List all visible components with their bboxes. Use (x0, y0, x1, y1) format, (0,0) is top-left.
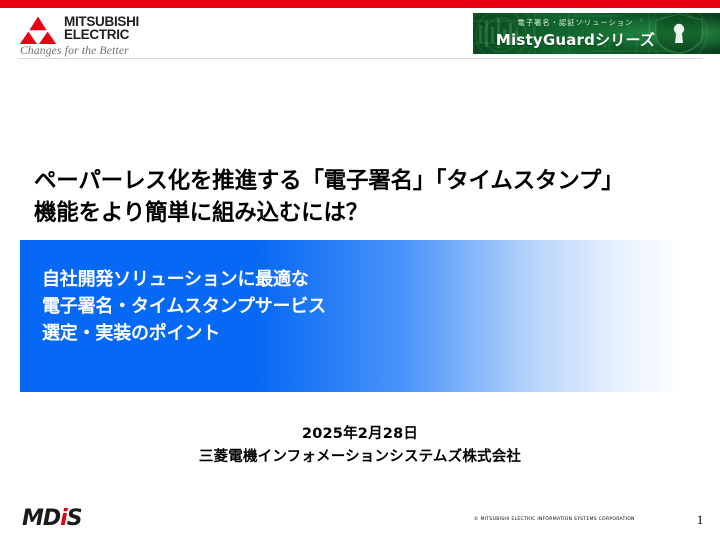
subtitle-line-3: 選定・実装のポイント (42, 320, 326, 347)
top-accent-bar (0, 0, 720, 8)
page-title: ペーパーレス化を推進する「電子署名」「タイムスタンプ」 機能をより簡単に組み込む… (34, 165, 694, 229)
mdis-logo-part-1: MD (22, 506, 60, 531)
page-title-line-2: 機能をより簡単に組み込むには？ (34, 197, 694, 229)
subtitle-line-1: 自社開発ソリューションに最適な (42, 266, 326, 293)
brand-wordmark: MITSUBISHI ELECTRIC (64, 15, 139, 41)
subtitle-band-text: 自社開発ソリューションに最適な 電子署名・タイムスタンプサービス 選定・実装のポ… (42, 266, 326, 347)
mdis-logo: MDiS (22, 506, 82, 531)
mitsubishi-three-diamonds-icon (18, 16, 58, 44)
header-divider (18, 58, 703, 59)
presentation-meta: 2025年2月28日 三菱電機インフォメーションシステムズ株式会社 (0, 424, 720, 469)
subtitle-line-2: 電子署名・タイムスタンプサービス (42, 293, 326, 320)
presentation-date: 2025年2月28日 (0, 424, 720, 445)
brand-name-line2: ELECTRIC (64, 28, 139, 41)
brand-tagline: Changes for the Better (20, 45, 129, 57)
subtitle-band: 自社開発ソリューションに最適な 電子署名・タイムスタンプサービス 選定・実装のポ… (20, 240, 682, 392)
page-number: 1 (690, 512, 710, 528)
banner-title: MistyGuardシリーズ (473, 29, 678, 50)
page-title-line-1: ペーパーレス化を推進する「電子署名」「タイムスタンプ」 (34, 165, 694, 197)
mitsubishi-electric-logo: MITSUBISHI ELECTRIC Changes for the Bett… (18, 13, 238, 57)
presenter-company: 三菱電機インフォメーションシステムズ株式会社 (0, 445, 720, 469)
mistyguard-product-banner: 電子署名・認証ソリューション MistyGuardシリーズ (473, 13, 720, 54)
banner-subtitle: 電子署名・認証ソリューション (473, 18, 678, 28)
mdis-logo-part-3: S (67, 506, 82, 531)
copyright-notice: © MITSUBISHI ELECTRIC INFORMATION SYSTEM… (474, 517, 635, 522)
